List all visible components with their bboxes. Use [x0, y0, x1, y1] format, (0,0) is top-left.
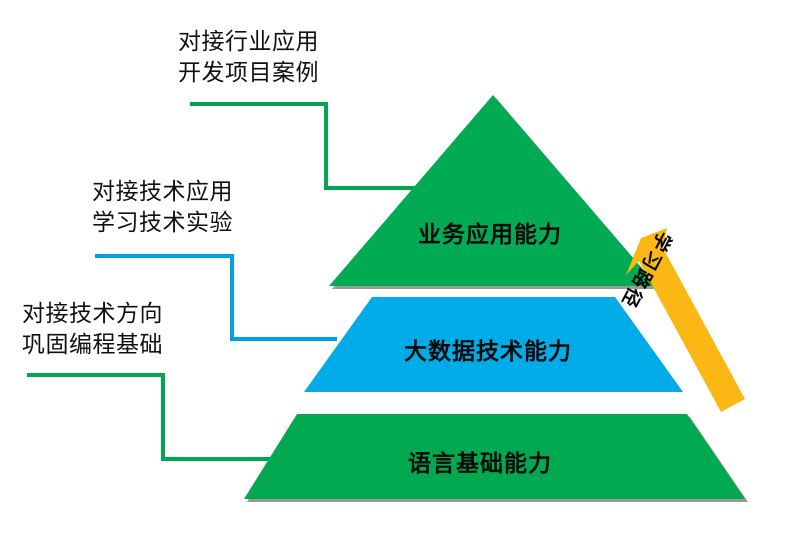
annotation-bottom-line1: 对接技术方向 — [22, 298, 163, 329]
annotation-bottom: 对接技术方向 巩固编程基础 — [22, 298, 163, 360]
annotation-middle: 对接技术应用 学习技术实验 — [92, 176, 233, 238]
tier-label-bottom: 语言基础能力 — [408, 444, 552, 478]
annotation-top-line1: 对接行业应用 — [178, 26, 319, 57]
connector-bottom — [27, 375, 270, 459]
diagram-graphics — [0, 0, 812, 536]
tier-label-middle: 大数据技术能力 — [404, 332, 572, 366]
annotation-bottom-line2: 巩固编程基础 — [22, 329, 163, 360]
diagram-canvas: 对接行业应用 开发项目案例 对接技术应用 学习技术实验 对接技术方向 巩固编程基… — [0, 0, 812, 536]
annotation-top-line2: 开发项目案例 — [178, 57, 319, 88]
annotation-top: 对接行业应用 开发项目案例 — [178, 26, 319, 88]
annotation-middle-line2: 学习技术实验 — [92, 207, 233, 238]
pyramid-tier-top[interactable] — [329, 95, 660, 289]
annotation-middle-line1: 对接技术应用 — [92, 176, 233, 207]
tier-label-top: 业务应用能力 — [418, 215, 562, 249]
